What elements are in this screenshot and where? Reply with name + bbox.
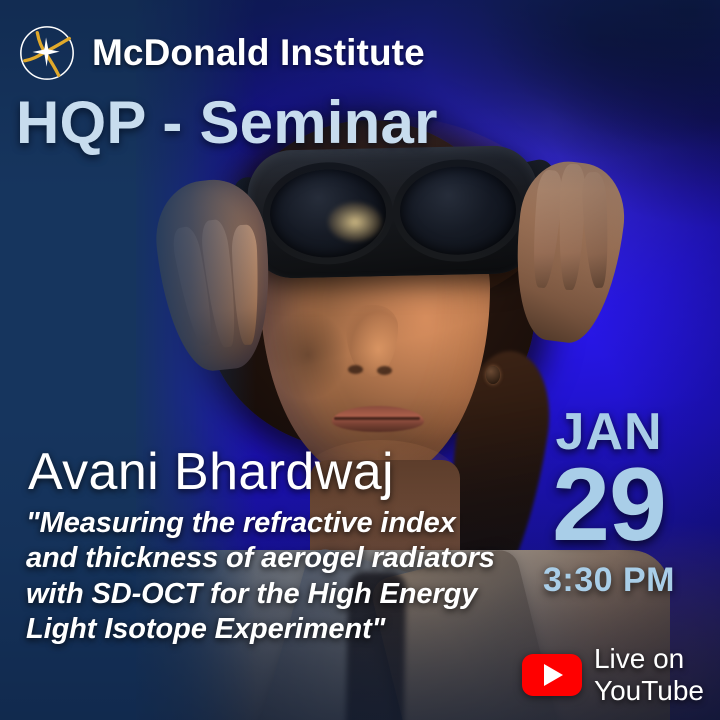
talk-title: "Measuring the refractive index and thic… (26, 506, 554, 648)
youtube-play-icon[interactable] (522, 654, 582, 696)
play-triangle-icon (544, 664, 563, 686)
poster-content: McDonald Institute HQP - Seminar Avani B… (0, 0, 720, 720)
seminar-poster: McDonald Institute HQP - Seminar Avani B… (0, 0, 720, 720)
talk-title-line: "Measuring the refractive index (26, 506, 554, 541)
brand-lockup: McDonald Institute (16, 22, 425, 84)
speaker-name: Avani Bhardwaj (28, 442, 394, 502)
series-title: HQP - Seminar (16, 88, 438, 157)
youtube-live-label: Live on YouTube (594, 643, 704, 706)
youtube-live-line1: Live on (594, 643, 704, 674)
talk-title-line: Light Isotope Experiment" (26, 612, 554, 647)
event-date-block: JAN 29 3:30 PM (516, 408, 702, 600)
youtube-live-line2: YouTube (594, 675, 704, 706)
mcdonald-institute-logo-icon (16, 22, 78, 84)
event-time: 3:30 PM (516, 560, 702, 601)
event-day: 29 (516, 458, 702, 554)
talk-title-line: with SD-OCT for the High Energy (26, 577, 554, 612)
youtube-live-block[interactable]: Live on YouTube (522, 643, 704, 706)
talk-title-line: and thickness of aerogel radiators (26, 541, 554, 576)
institute-name: McDonald Institute (92, 32, 425, 74)
